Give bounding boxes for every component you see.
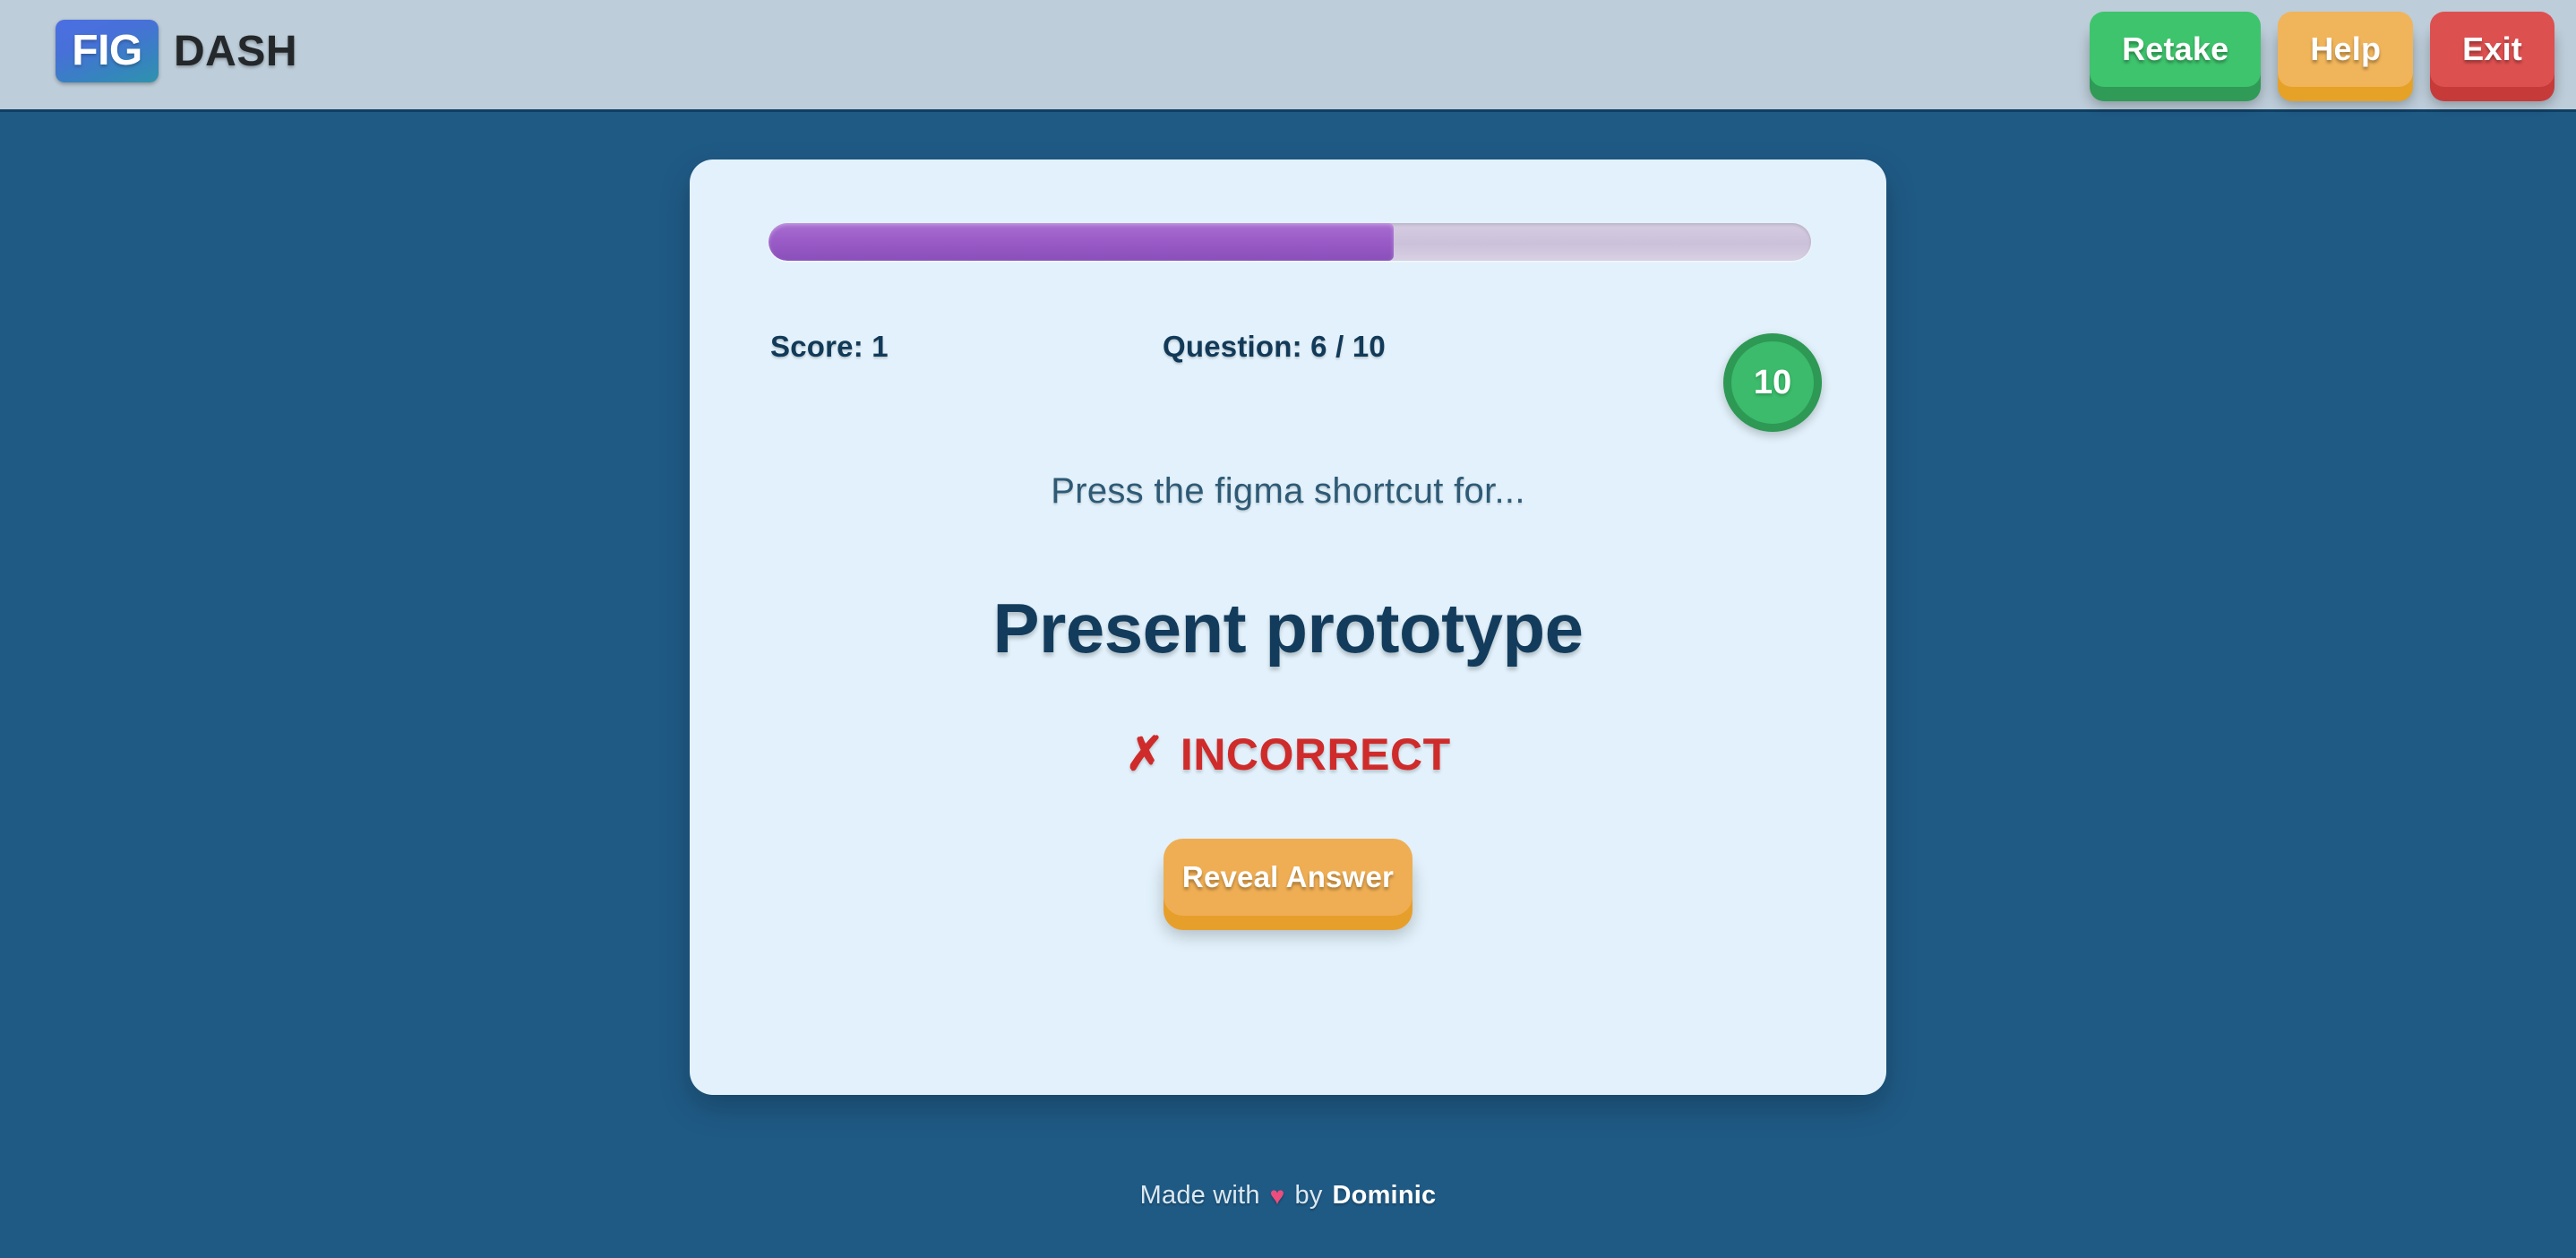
timer-badge: 10 — [1723, 333, 1822, 432]
footer: Made with ♥ by Dominic — [0, 1181, 2576, 1211]
timer-value: 10 — [1754, 366, 1791, 400]
score-label: Score: 1 — [770, 330, 889, 364]
question-prompt: Press the figma shortcut for... — [690, 471, 1886, 512]
quiz-stats: Score: 1 Question: 6 / 10 — [690, 330, 1886, 375]
help-button[interactable]: Help — [2278, 12, 2413, 87]
quiz-card: Score: 1 Question: 6 / 10 10 Press the f… — [690, 159, 1886, 1095]
question-answer-title: Present prototype — [690, 588, 1886, 669]
footer-middle: by — [1294, 1181, 1322, 1211]
fig-badge-icon: FIG — [56, 20, 159, 82]
footer-credit: Made with ♥ by Dominic — [1140, 1181, 1437, 1211]
brand-logo: FIG DASH — [56, 20, 297, 82]
exit-button[interactable]: Exit — [2430, 12, 2555, 87]
verdict-label: INCORRECT — [1181, 728, 1451, 780]
progress-bar — [769, 223, 1811, 261]
question-counter-label: Question: 6 / 10 — [1163, 330, 1386, 364]
fig-badge-label: FIG — [72, 30, 142, 73]
footer-author: Dominic — [1333, 1181, 1437, 1211]
heart-icon: ♥ — [1270, 1184, 1285, 1209]
footer-prefix: Made with — [1140, 1181, 1260, 1211]
reveal-answer-button[interactable]: Reveal Answer — [1163, 839, 1413, 916]
app-root: FIG DASH Retake Help Exit Score: 1 Quest… — [0, 0, 2576, 1258]
retake-button[interactable]: Retake — [2090, 12, 2261, 87]
app-header: FIG DASH Retake Help Exit — [0, 0, 2576, 112]
header-actions: Retake Help Exit — [2090, 12, 2555, 87]
cross-icon: ✗ — [1125, 731, 1164, 778]
progress-bar-fill — [769, 223, 1394, 261]
verdict-status: ✗ INCORRECT — [690, 728, 1886, 780]
app-title: DASH — [174, 27, 297, 76]
